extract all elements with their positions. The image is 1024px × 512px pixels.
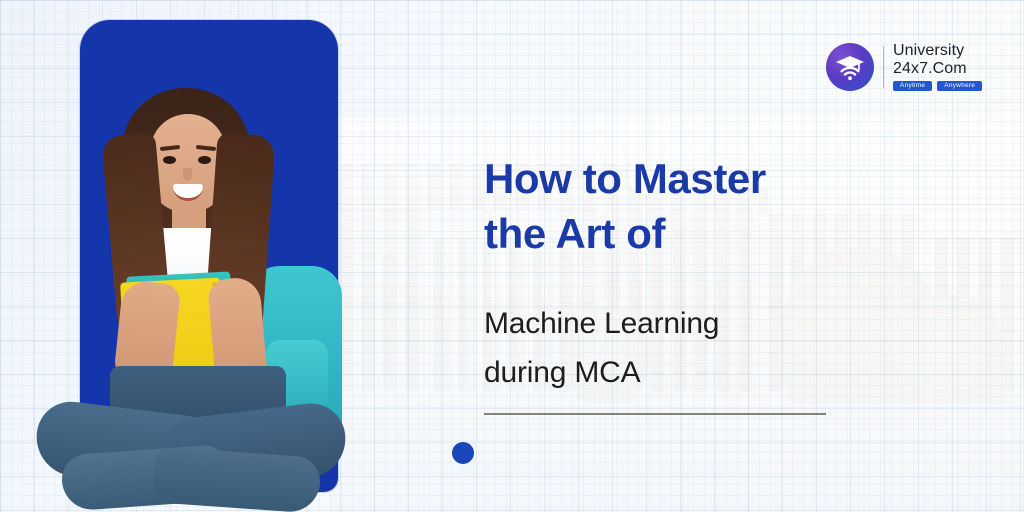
accent-dot xyxy=(452,442,474,464)
logo-divider xyxy=(883,46,884,88)
divider-rule xyxy=(484,413,826,415)
shin-right xyxy=(152,446,322,512)
subheadline-line-2: during MCA xyxy=(484,349,954,398)
eye-left xyxy=(163,156,176,164)
graduation-cap-wifi-icon xyxy=(826,43,874,91)
brand-logo[interactable]: University 24x7.Com Anytime Anywhere xyxy=(826,42,982,91)
headline-line-1: How to Master xyxy=(484,155,766,202)
logo-line-2: 24x7.Com xyxy=(893,60,982,78)
badge-anytime: Anytime xyxy=(893,81,932,92)
logo-line-1: University xyxy=(893,42,982,60)
logo-text: University 24x7.Com Anytime Anywhere xyxy=(893,42,982,91)
nose xyxy=(183,168,192,181)
banner-root: University 24x7.Com Anytime Anywhere How… xyxy=(0,0,1024,512)
student-photo xyxy=(14,78,354,512)
logo-badges: Anytime Anywhere xyxy=(893,81,982,92)
eye-right xyxy=(198,156,211,164)
subheadline: Machine Learning during MCA xyxy=(484,300,954,397)
headline-line-2: the Art of xyxy=(484,207,954,262)
badge-anywhere: Anywhere xyxy=(937,81,982,92)
headline: How to Master the Art of xyxy=(484,152,954,261)
subheadline-line-1: Machine Learning xyxy=(484,307,719,340)
